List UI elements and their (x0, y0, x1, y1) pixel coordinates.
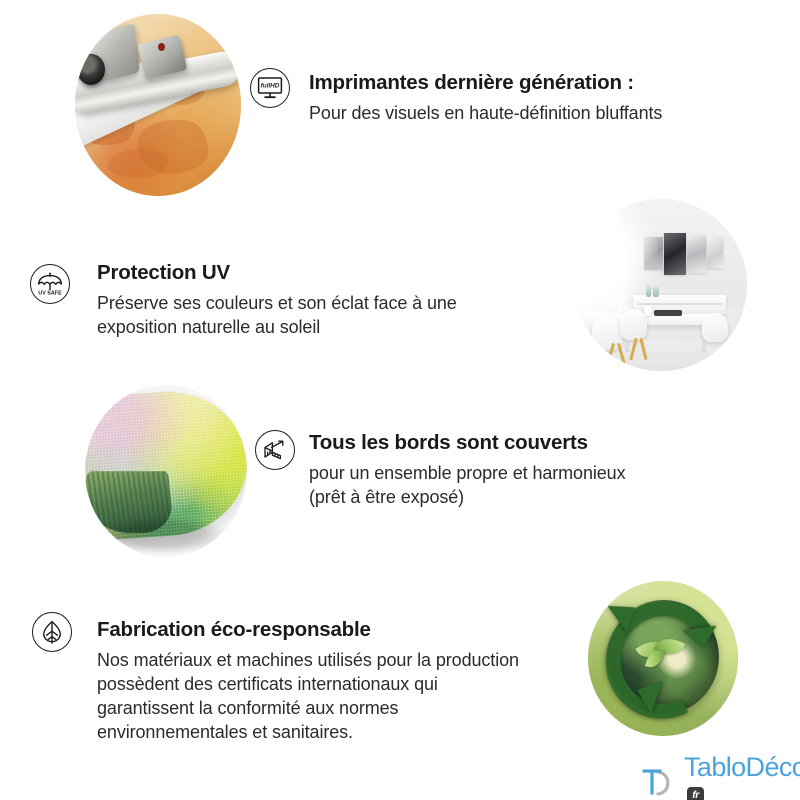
feature-description-line: Préserve ses couleurs et son éclat face … (97, 291, 457, 315)
photo-map-landmass (108, 149, 168, 178)
photo-recycle-arrow (683, 625, 720, 651)
feature-description-line: pour un ensemble propre et harmonieux (309, 461, 626, 485)
feature-title: Imprimantes dernière génération : (309, 70, 662, 95)
svg-text:fullHD: fullHD (261, 83, 280, 90)
feature-description-line: exposition naturelle au soleil (97, 315, 457, 339)
feature-description-line: garantissent la conformité aux normes (97, 696, 519, 720)
photo-chair (702, 313, 728, 342)
photo-wall-canvas-panel (687, 235, 706, 273)
feature-description: Pour des visuels en haute-définition blu… (309, 101, 662, 125)
photo-sunlight-glow (575, 206, 658, 330)
leaf-icon (32, 612, 72, 652)
photo-table-tray (654, 310, 682, 316)
infographic-canvas: fullHD Imprimantes dernière génération :… (0, 0, 800, 800)
feature-description-line: possèdent des certificats internationaux… (97, 672, 519, 696)
tablodeco-logo[interactable]: TabloDéco™fr (637, 754, 800, 800)
svg-text:UV SAFE: UV SAFE (38, 290, 62, 296)
feature-title: Tous les bords sont couverts (309, 430, 626, 455)
tablodeco-monogram (637, 761, 677, 800)
feature-text-printers: Imprimantes dernière génération : Pour d… (309, 70, 662, 125)
eco-globe-recycling-photo (588, 581, 738, 736)
tld-badge: fr (687, 787, 704, 800)
uv-safe-umbrella-icon: UV SAFE (30, 264, 70, 304)
feature-description-line: Pour des visuels en haute-définition blu… (309, 101, 662, 125)
feature-description-line: environnementales et sanitaires. (97, 720, 519, 744)
photo-wall-canvas-panel (664, 233, 686, 274)
fullhd-monitor-icon: fullHD (250, 68, 290, 108)
feature-description-line: (prêt à être exposé) (309, 485, 626, 509)
feature-description: Préserve ses couleurs et son éclat face … (97, 291, 457, 339)
feature-title: Fabrication éco-responsable (97, 617, 519, 642)
tablodeco-wordmark: TabloDéco™fr (684, 754, 800, 800)
feature-text-eco-manufacturing: Fabrication éco-responsable Nos matériau… (97, 617, 519, 744)
wordmark-text: TabloDéco (684, 752, 800, 782)
bright-dining-room-photo (575, 199, 747, 371)
photo-roller-hub (77, 54, 105, 85)
wrapped-canvas-edge-icon (255, 430, 295, 470)
feature-description-line: Nos matériaux et machines utilisés pour … (97, 648, 519, 672)
printer-roller-world-map-photo (75, 14, 241, 196)
canvas-corner-closeup-photo (85, 385, 247, 557)
feature-description: pour un ensemble propre et harmonieux (p… (309, 461, 626, 509)
photo-wall-canvas-panel (707, 237, 723, 268)
feature-text-uv-protection: Protection UV Préserve ses couleurs et s… (97, 260, 457, 339)
feature-title: Protection UV (97, 260, 457, 285)
feature-text-covered-edges: Tous les bords sont couverts pour un ens… (309, 430, 626, 509)
feature-description: Nos matériaux et machines utilisés pour … (97, 648, 519, 744)
photo-drop-shadow (98, 516, 228, 554)
